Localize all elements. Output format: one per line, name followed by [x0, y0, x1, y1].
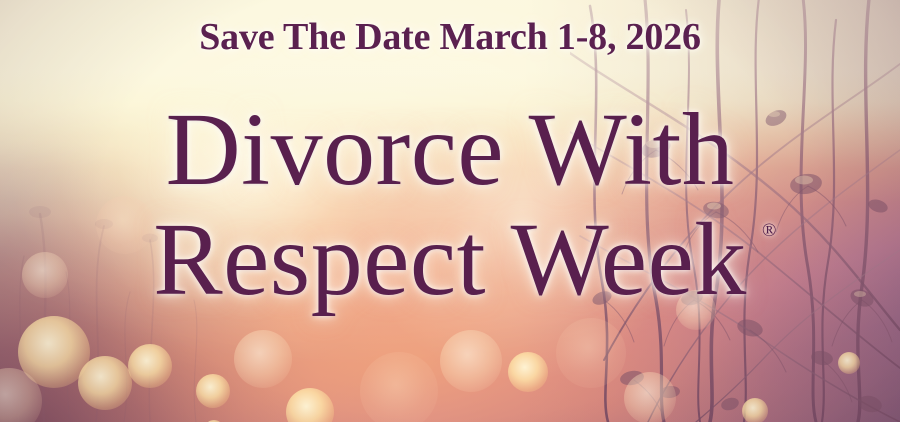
- bokeh-orb: [624, 372, 676, 422]
- bokeh-orb: [440, 330, 502, 392]
- save-the-date-banner: Save The Date March 1-8, 2026 Divorce Wi…: [0, 0, 900, 422]
- save-the-date-kicker: Save The Date March 1-8, 2026: [0, 18, 900, 56]
- bokeh-orb: [286, 388, 334, 422]
- bokeh-orb: [742, 398, 768, 422]
- bokeh-orb: [0, 368, 42, 422]
- headline-group: Save The Date March 1-8, 2026 Divorce Wi…: [0, 0, 900, 422]
- bokeh-orb: [196, 374, 230, 408]
- title-line-one: Divorce With: [0, 98, 900, 202]
- bokeh-orb: [556, 318, 626, 388]
- registered-trademark-icon: ®: [762, 221, 776, 240]
- bokeh-orb: [18, 316, 90, 388]
- bokeh-orb: [128, 344, 172, 388]
- bokeh-orb: [508, 352, 548, 392]
- bokeh-orb: [838, 352, 860, 374]
- bokeh-orb: [360, 352, 438, 422]
- bokeh-orb: [78, 356, 132, 410]
- bokeh-orb: [234, 330, 292, 388]
